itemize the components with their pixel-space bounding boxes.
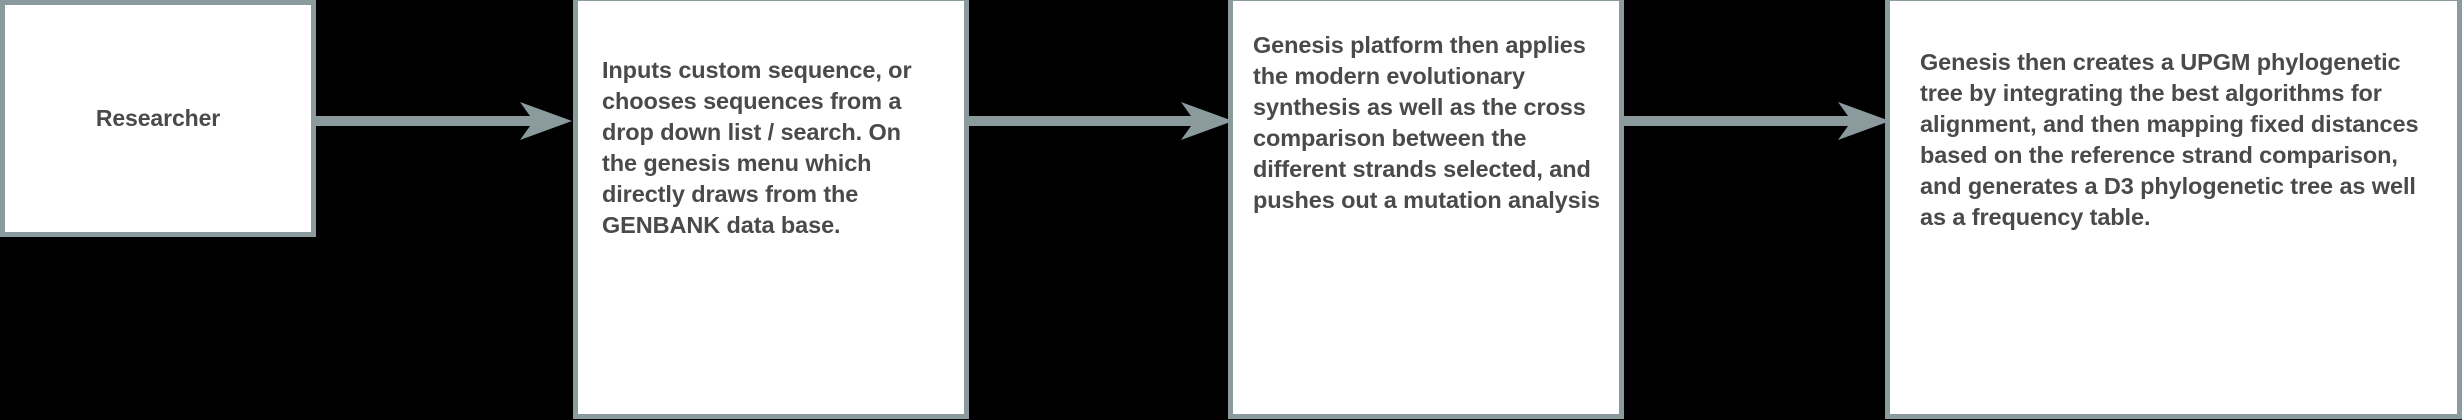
arrow-right-icon [312, 95, 572, 147]
flowchart-node-inputs[interactable]: Inputs custom sequence, or chooses seque… [573, 0, 969, 419]
node-label-inputs: Inputs custom sequence, or chooses seque… [602, 55, 942, 241]
arrow-right-icon [965, 95, 1233, 147]
flowchart-canvas: Researcher Inputs custom sequence, or ch… [0, 0, 2462, 420]
node-label-researcher: Researcher [96, 103, 220, 134]
arrow-right-icon [1620, 95, 1890, 147]
flowchart-node-genesis-platform[interactable]: Genesis platform then applies the modern… [1228, 0, 1624, 419]
node-label-genesis-tree: Genesis then creates a UPGM phylogenetic… [1920, 47, 2437, 233]
node-label-genesis-platform: Genesis platform then applies the modern… [1253, 30, 1601, 216]
flowchart-node-genesis-tree[interactable]: Genesis then creates a UPGM phylogenetic… [1885, 0, 2462, 419]
connector-genesis-platform-to-genesis-tree [1620, 95, 1890, 147]
connector-researcher-to-inputs [312, 95, 572, 147]
connector-inputs-to-genesis-platform [965, 95, 1233, 147]
flowchart-node-researcher[interactable]: Researcher [0, 0, 316, 237]
